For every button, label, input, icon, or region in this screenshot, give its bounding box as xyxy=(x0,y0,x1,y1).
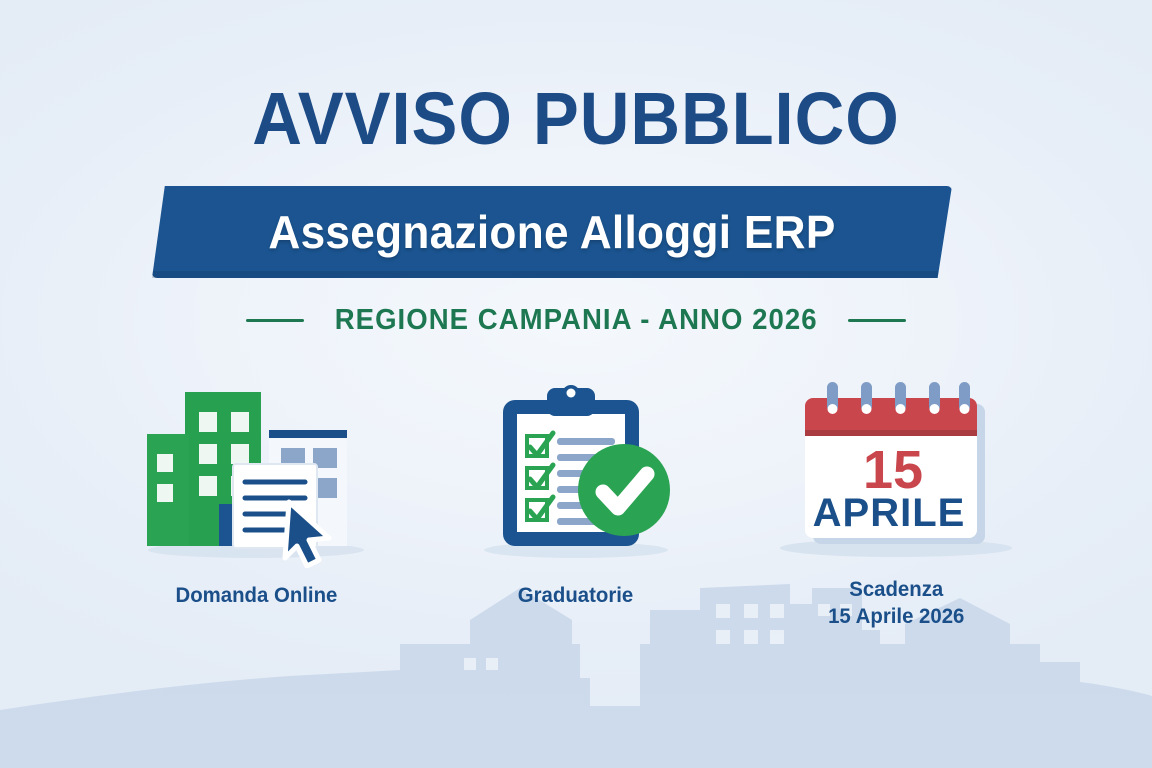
feature-label-scadenza-line1: Scadenza xyxy=(828,576,964,603)
calendar-month: APRILE xyxy=(813,491,966,535)
feature-label-domanda-online: Domanda Online xyxy=(175,582,337,609)
feature-label-scadenza: Scadenza 15 Aprile 2026 xyxy=(828,576,964,630)
feature-graduatorie: Graduatorie xyxy=(416,378,736,609)
page-title: AVVISO PUBBLICO xyxy=(40,0,1111,156)
poster-header: AVVISO PUBBLICO Assegnazione Alloggi ERP… xyxy=(0,0,1152,337)
subtitle-row: REGIONE CAMPANIA - ANNO 2026 xyxy=(0,304,1152,337)
divider-right xyxy=(848,319,906,322)
feature-label-graduatorie: Graduatorie xyxy=(518,582,633,609)
feature-label-scadenza-line2: 15 Aprile 2026 xyxy=(828,603,964,630)
divider-left xyxy=(246,319,304,322)
calendar-icon: 15 APRILE xyxy=(771,378,1021,568)
features-row: Domanda Online xyxy=(0,378,1152,630)
clipboard-checklist-check-icon xyxy=(461,378,691,568)
banner: Assegnazione Alloggi ERP xyxy=(0,186,1152,282)
feature-domanda-online: Domanda Online xyxy=(96,378,416,609)
subtitle: REGIONE CAMPANIA - ANNO 2026 xyxy=(335,304,818,337)
buildings-document-cursor-icon xyxy=(141,378,371,568)
feature-scadenza: 15 APRILE Scadenza 15 Aprile 2026 xyxy=(736,378,1056,630)
banner-label: Assegnazione Alloggi ERP xyxy=(168,186,936,278)
